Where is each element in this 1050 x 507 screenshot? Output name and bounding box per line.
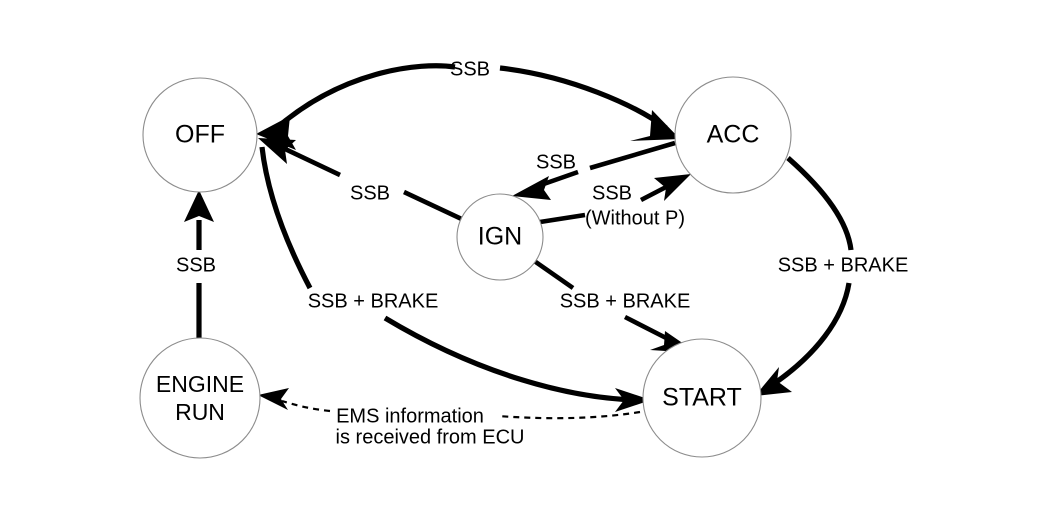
edge-label-start-to-engine-run-sub: is received from ECU	[336, 426, 525, 448]
edge-off-to-acc-path-right	[500, 68, 666, 128]
edge-label-ign-to-off: SSB	[350, 182, 390, 204]
edge-off-to-start-path-2	[385, 318, 636, 400]
edge-start-to-engine-run-arrowhead	[258, 388, 289, 410]
node-off[interactable]: OFF	[143, 78, 257, 192]
edge-ign-to-off-path	[404, 192, 468, 222]
edge-label-ign-to-acc: SSB	[592, 182, 632, 204]
ignition-state-diagram: SSB SSB SSB SSB (Without P) SSB + BRAKE …	[0, 0, 1050, 507]
edge-label-acc-to-start: SSB + BRAKE	[778, 254, 909, 276]
edge-ign-to-start-path	[530, 258, 573, 288]
node-acc[interactable]: ACC	[675, 77, 791, 193]
edge-ign-to-off-path-2	[283, 148, 340, 175]
edge-acc-to-start	[755, 158, 851, 396]
node-start[interactable]: START	[643, 339, 761, 457]
node-start-label: START	[662, 384, 742, 412]
edge-label-start-to-engine-run: EMS information	[336, 405, 484, 427]
node-engine-run-circle[interactable]	[140, 338, 260, 458]
edge-acc-to-start-path-2	[775, 283, 849, 383]
node-engine-run[interactable]: ENGINE RUN	[140, 338, 260, 458]
edge-engine-run-to-off-arrowhead	[184, 190, 214, 222]
edge-off-to-start-path	[262, 147, 310, 288]
edge-off-to-acc-arrowhead-acc	[630, 110, 680, 141]
edge-start-to-engine-run-path	[498, 412, 640, 418]
edge-label-engine-run-to-off: SSB	[176, 254, 216, 276]
edge-label-off-to-acc: SSB	[450, 58, 490, 80]
edge-ign-to-acc-arrowhead	[654, 174, 691, 201]
edge-off-to-acc-path	[271, 66, 455, 133]
node-engine-run-label-line2: RUN	[175, 399, 225, 425]
edge-acc-to-ign-path	[590, 143, 675, 168]
node-off-label: OFF	[175, 121, 225, 149]
edge-ign-to-off	[258, 138, 468, 222]
edge-label-acc-to-ign: SSB	[536, 151, 576, 173]
node-engine-run-label-line1: ENGINE	[156, 371, 244, 397]
edge-ign-to-acc-path-2	[641, 186, 668, 200]
node-ign-label: IGN	[478, 223, 522, 251]
edge-acc-to-ign-arrowhead	[512, 176, 551, 200]
edge-label-off-to-start: SSB + BRAKE	[308, 290, 439, 312]
edge-label-ign-to-acc-sub: (Without P)	[585, 207, 685, 229]
edge-start-to-engine-run-path-2	[282, 401, 330, 411]
node-ign[interactable]: IGN	[457, 194, 543, 280]
edge-acc-to-start-path	[788, 158, 851, 250]
edge-ign-to-acc-path	[540, 215, 585, 222]
edge-label-ign-to-start: SSB + BRAKE	[560, 290, 691, 312]
state-diagram-canvas: SSB SSB SSB SSB (Without P) SSB + BRAKE …	[0, 0, 1050, 507]
node-acc-label: ACC	[707, 121, 760, 149]
